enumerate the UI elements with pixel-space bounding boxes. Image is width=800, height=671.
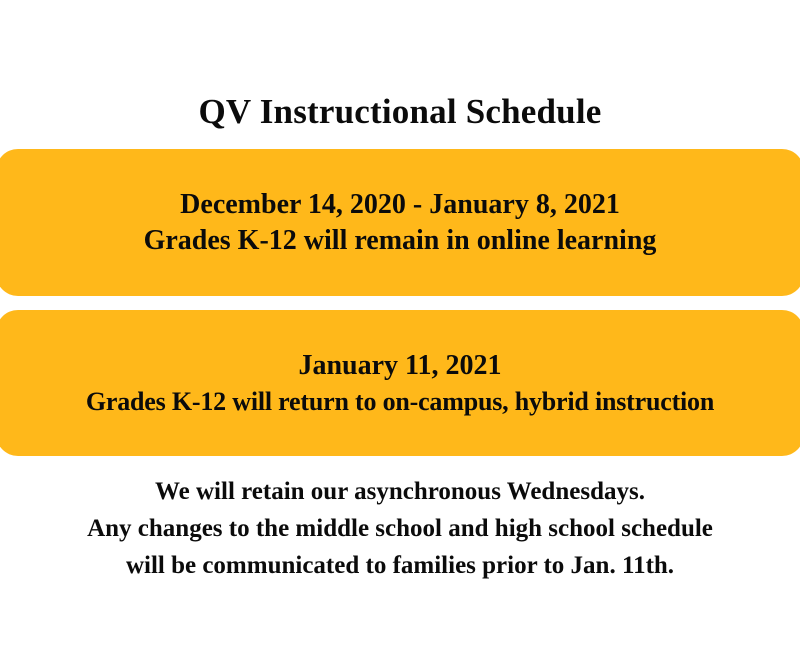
footer-note: We will retain our asynchronous Wednesda…	[0, 473, 800, 584]
footer-note-line: will be communicated to families prior t…	[0, 547, 800, 584]
footer-note-line: We will retain our asynchronous Wednesda…	[0, 473, 800, 510]
page-title: QV Instructional Schedule	[0, 89, 800, 135]
callout-hybrid-return-date: January 11, 2021 Grades K-12 will return…	[0, 310, 800, 456]
announcement-page: QV Instructional Schedule December 14, 2…	[0, 0, 800, 671]
callout-detail: Grades K-12 will return to on-campus, hy…	[86, 388, 714, 415]
footer-note-line: Any changes to the middle school and hig…	[0, 510, 800, 547]
callout-detail: Grades K-12 will remain in online learni…	[144, 226, 657, 255]
callout-date-range: January 11, 2021	[298, 351, 501, 380]
callout-date-range: December 14, 2020 - January 8, 2021	[180, 190, 620, 219]
callout-online-learning-period: December 14, 2020 - January 8, 2021 Grad…	[0, 149, 800, 296]
